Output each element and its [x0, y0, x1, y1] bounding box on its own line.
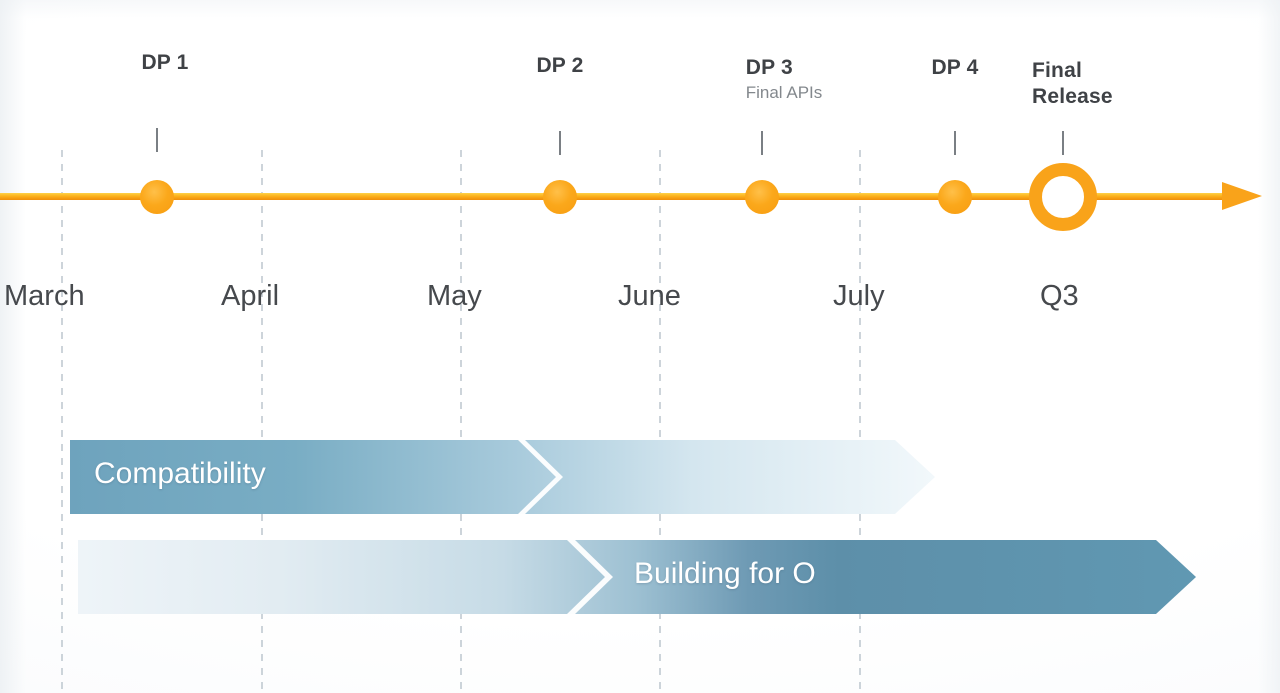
milestone-title: DP 2	[536, 53, 583, 79]
month-label-april: April	[221, 278, 279, 314]
milestone-label-dp1[interactable]: DP 1	[141, 50, 188, 76]
milestone-title: DP 3	[746, 55, 823, 81]
timeline-diagram: DP 1 DP 2 DP 3 Final APIs DP 4 Final Rel…	[0, 0, 1280, 693]
milestone-title: Final Release	[1032, 58, 1136, 110]
milestone-marker-dp4[interactable]	[938, 180, 972, 214]
stem-dp3	[761, 131, 763, 155]
milestone-subtitle: Final APIs	[746, 81, 823, 104]
stem-dp1	[156, 128, 158, 152]
milestone-label-dp2[interactable]: DP 2	[536, 53, 583, 79]
milestone-title: DP 4	[931, 55, 978, 81]
milestone-marker-final[interactable]	[1029, 163, 1097, 231]
milestone-label-dp3[interactable]: DP 3 Final APIs	[746, 55, 823, 104]
stem-dp4	[954, 131, 956, 155]
milestone-title: DP 1	[141, 50, 188, 76]
phase-band-label-building-for-o: Building for O	[634, 555, 816, 593]
month-label-q3: Q3	[1040, 278, 1079, 314]
phase-band-label-compatibility: Compatibility	[94, 455, 266, 493]
month-label-june: June	[618, 278, 681, 314]
milestone-marker-dp3[interactable]	[745, 180, 779, 214]
milestone-marker-dp1[interactable]	[140, 180, 174, 214]
milestone-label-dp4[interactable]: DP 4	[931, 55, 978, 81]
milestone-marker-dp2[interactable]	[543, 180, 577, 214]
stem-dp2	[559, 131, 561, 155]
month-label-may: May	[427, 278, 482, 314]
arrow-right-icon	[1222, 182, 1262, 210]
stem-final	[1062, 131, 1064, 155]
milestone-label-final[interactable]: Final Release	[1032, 58, 1136, 110]
month-label-july: July	[833, 278, 885, 314]
month-label-march: March	[4, 278, 85, 314]
